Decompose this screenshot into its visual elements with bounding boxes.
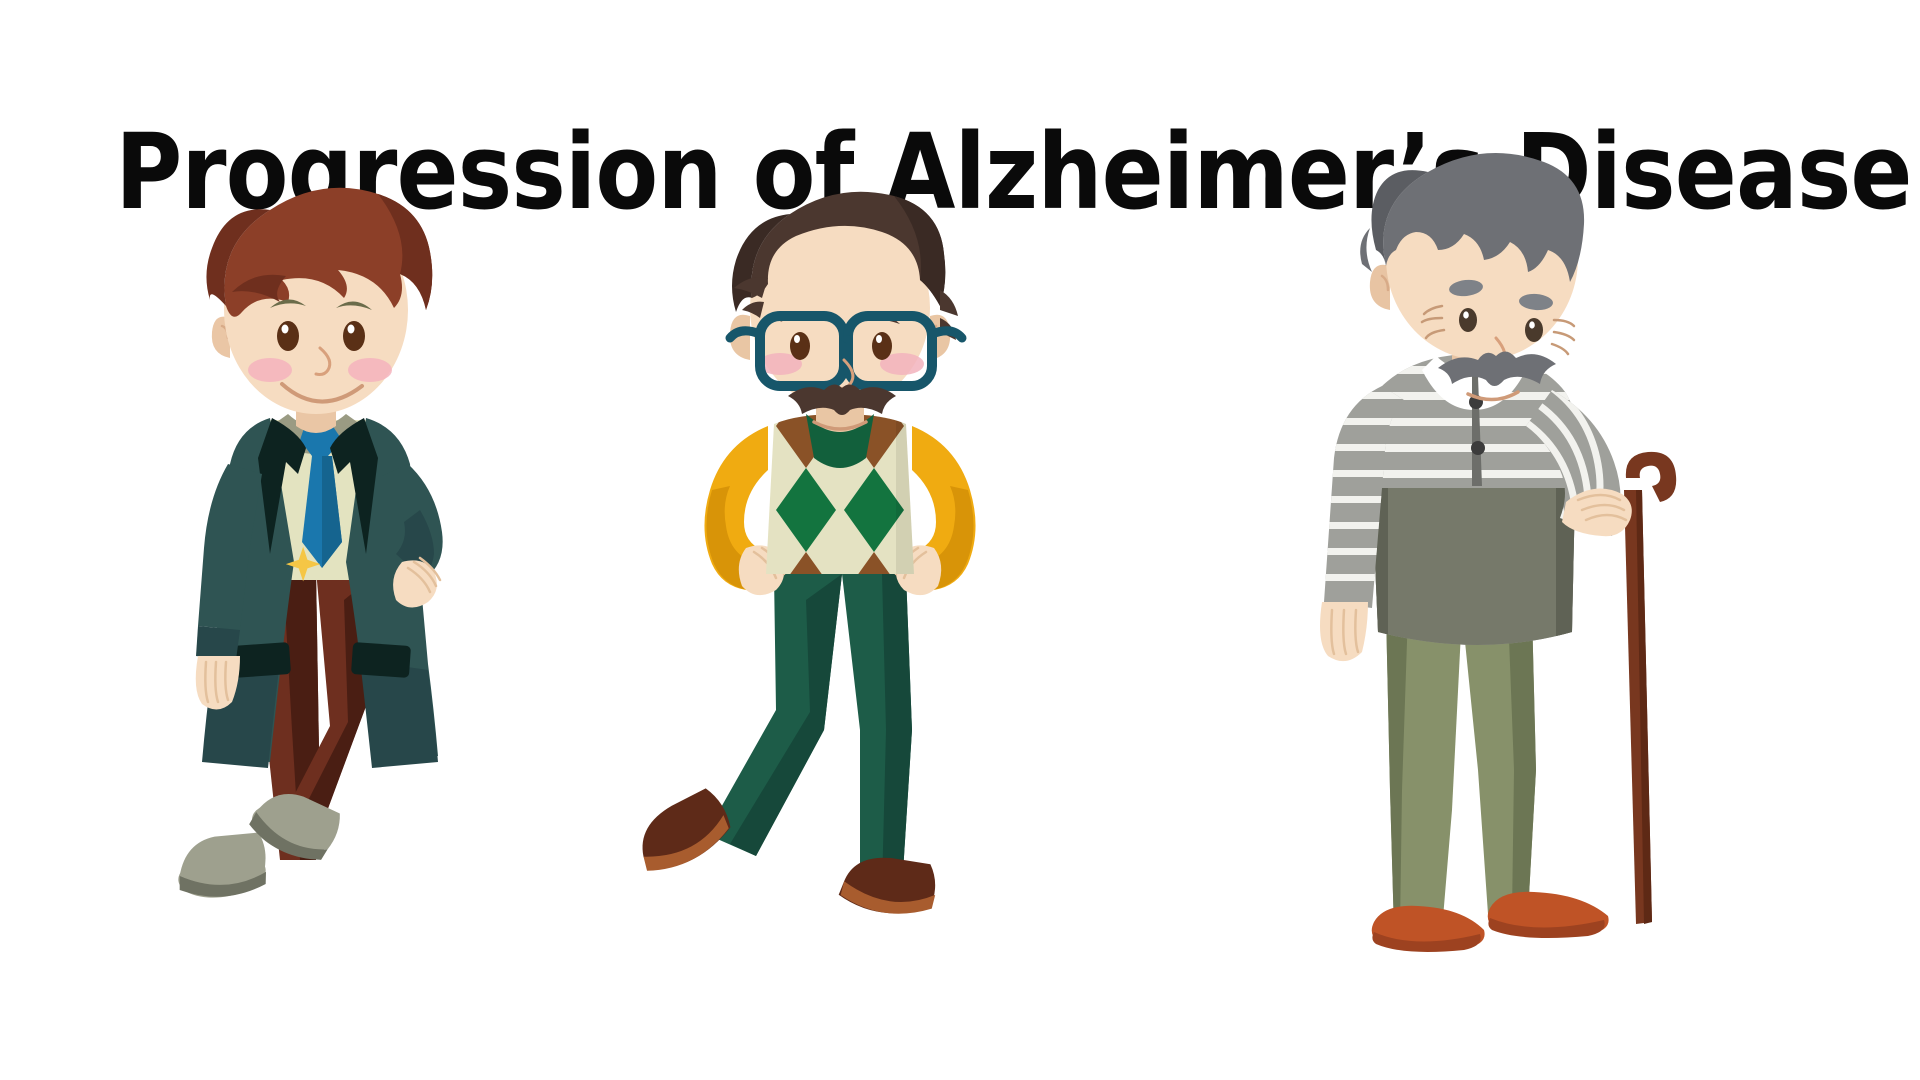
middle-head — [730, 192, 962, 429]
figure-young-adult[interactable] — [120, 170, 520, 1070]
figures-row — [0, 170, 1920, 1070]
poster-canvas: Progression of Alzheimer’s Disease — [0, 0, 1920, 1080]
mustache-icon — [788, 384, 896, 415]
young-head — [206, 188, 432, 414]
figure-elderly[interactable] — [1290, 170, 1730, 1070]
walking-cane — [1624, 452, 1676, 924]
figure-middle-aged[interactable] — [610, 170, 1070, 1070]
old-legs — [1386, 612, 1536, 930]
old-head — [1360, 153, 1584, 400]
glasses-icon — [730, 316, 962, 386]
middle-legs — [706, 574, 912, 888]
